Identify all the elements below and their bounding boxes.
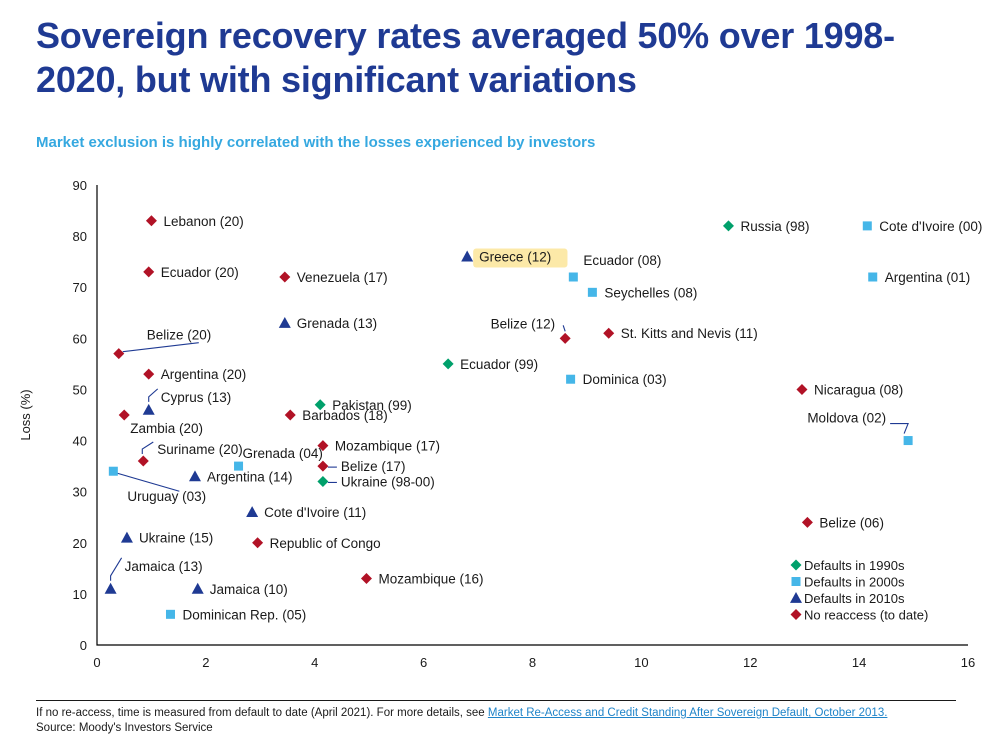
datapoint-russia-98[interactable] <box>723 220 734 231</box>
datapoint-label-ecuador-08: Ecuador (08) <box>583 253 661 268</box>
x-tick-label: 14 <box>852 655 866 670</box>
datapoint-label-mozambique-17: Mozambique (17) <box>335 439 440 454</box>
datapoint-label-st-kitts-and-nevis-11: St. Kitts and Nevis (11) <box>621 326 758 341</box>
datapoint-label-ecuador-99: Ecuador (99) <box>460 357 538 372</box>
y-tick-label: 40 <box>73 434 87 449</box>
datapoint-barbados-18[interactable] <box>285 410 296 421</box>
datapoint-label-argentina-01: Argentina (01) <box>885 270 971 285</box>
label-leader-line <box>890 424 908 434</box>
datapoint-argentina-01[interactable] <box>868 273 877 282</box>
datapoint-suriname-20[interactable] <box>138 456 149 467</box>
datapoint-dominica-03[interactable] <box>566 375 575 384</box>
chart-legend: Defaults in 1990sDefaults in 2000sDefaul… <box>790 558 928 623</box>
datapoint-jamaica-10[interactable] <box>192 583 204 594</box>
y-tick-label: 60 <box>73 331 87 346</box>
datapoint-label-greece-12: Greece (12) <box>479 250 551 265</box>
datapoint-label-barbados-18: Barbados (18) <box>302 408 388 423</box>
chart-canvas: 01020304050607080900246810121416Time fro… <box>0 170 990 680</box>
datapoint-label-belize-20: Belize (20) <box>147 328 212 343</box>
footer-note: If no re-access, time is measured from d… <box>36 706 956 736</box>
page-subtitle: Market exclusion is highly correlated wi… <box>36 134 936 151</box>
y-tick-label: 70 <box>73 280 87 295</box>
datapoint-label-zambia-20: Zambia (20) <box>130 421 203 436</box>
footer-line-2: Source: Moody's Investors Service <box>36 721 956 736</box>
footer-note-text: If no re-access, time is measured from d… <box>36 707 488 719</box>
datapoint-ecuador-99[interactable] <box>443 358 454 369</box>
label-leader-line <box>111 558 122 581</box>
datapoint-dominican-rep-05[interactable] <box>166 610 175 619</box>
datapoint-label-russia-98: Russia (98) <box>740 219 809 234</box>
datapoint-moldova-02[interactable] <box>904 436 913 445</box>
datapoint-label-republic-of-congo: Republic of Congo <box>270 536 381 551</box>
datapoint-label-grenada-04: Grenada (04) <box>243 446 323 461</box>
datapoint-label-lebanon-20: Lebanon (20) <box>163 214 243 229</box>
y-tick-label: 80 <box>73 229 87 244</box>
footer-divider <box>36 700 956 701</box>
datapoint-mozambique-16[interactable] <box>361 573 372 584</box>
datapoint-republic-of-congo[interactable] <box>252 537 263 548</box>
datapoint-label-jamaica-13: Jamaica (13) <box>125 559 203 574</box>
legend-label-defaults-in-2000s: Defaults in 2000s <box>804 575 905 590</box>
datapoint-label-cote-d-ivoire-11: Cote d'Ivoire (11) <box>264 505 366 520</box>
datapoint-belize-17[interactable] <box>317 461 328 472</box>
datapoint-label-mozambique-16: Mozambique (16) <box>378 572 483 587</box>
datapoint-label-dominican-rep-05: Dominican Rep. (05) <box>182 607 306 622</box>
source-link[interactable]: Market Re-Access and Credit Standing Aft… <box>488 707 888 719</box>
datapoint-zambia-20[interactable] <box>119 410 130 421</box>
datapoint-st-kitts-and-nevis-11[interactable] <box>603 328 614 339</box>
datapoint-grenada-13[interactable] <box>279 317 291 328</box>
datapoint-argentina-14[interactable] <box>189 470 201 481</box>
x-tick-label: 16 <box>961 655 975 670</box>
datapoint-label-cyprus-13: Cyprus (13) <box>161 390 232 405</box>
datapoint-nicaragua-08[interactable] <box>796 384 807 395</box>
legend-label-defaults-in-1990s: Defaults in 1990s <box>804 558 905 573</box>
datapoint-label-venezuela-17: Venezuela (17) <box>297 270 388 285</box>
x-tick-label: 8 <box>529 655 536 670</box>
legend-red-diamond-icon[interactable] <box>791 609 802 620</box>
datapoint-label-ukraine-98-00: Ukraine (98-00) <box>341 474 435 489</box>
footer-line-1: If no re-access, time is measured from d… <box>36 706 956 721</box>
datapoint-belize-06[interactable] <box>802 517 813 528</box>
datapoint-ukraine-15[interactable] <box>121 532 133 543</box>
datapoint-label-belize-17: Belize (17) <box>341 459 406 474</box>
datapoint-label-argentina-20: Argentina (20) <box>161 367 247 382</box>
datapoint-lebanon-20[interactable] <box>146 215 157 226</box>
datapoint-label-cote-d-ivoire-00: Cote d'Ivoire (00) <box>879 219 982 234</box>
datapoint-label-moldova-02: Moldova (02) <box>807 411 886 426</box>
x-tick-label: 4 <box>311 655 318 670</box>
scatter-chart: 01020304050607080900246810121416Time fro… <box>0 170 990 680</box>
label-leader-line <box>149 389 158 402</box>
datapoint-label-ukraine-15: Ukraine (15) <box>139 531 213 546</box>
datapoint-belize-12[interactable] <box>560 333 571 344</box>
datapoint-label-uruguay-03: Uruguay (03) <box>127 489 206 504</box>
datapoint-seychelles-08[interactable] <box>588 288 597 297</box>
label-leader-line <box>563 325 565 331</box>
datapoint-greece-12[interactable] <box>461 251 473 262</box>
datapoint-label-dominica-03: Dominica (03) <box>583 372 667 387</box>
label-leader-line <box>123 343 199 352</box>
x-tick-label: 6 <box>420 655 427 670</box>
datapoint-argentina-20[interactable] <box>143 369 154 380</box>
x-tick-label: 10 <box>634 655 648 670</box>
datapoint-jamaica-13[interactable] <box>105 583 117 594</box>
datapoint-label-nicaragua-08: Nicaragua (08) <box>814 382 903 397</box>
x-tick-label: 2 <box>202 655 209 670</box>
datapoint-venezuela-17[interactable] <box>279 272 290 283</box>
label-leader-line <box>142 442 153 454</box>
datapoint-label-argentina-14: Argentina (14) <box>207 469 293 484</box>
datapoint-label-seychelles-08: Seychelles (08) <box>604 285 697 300</box>
y-tick-label: 20 <box>73 536 87 551</box>
x-tick-label: 12 <box>743 655 757 670</box>
y-tick-label: 30 <box>73 485 87 500</box>
page-title: Sovereign recovery rates averaged 50% ov… <box>36 14 966 102</box>
datapoint-label-ecuador-20: Ecuador (20) <box>161 265 239 280</box>
datapoint-cote-d-ivoire-00[interactable] <box>863 221 872 230</box>
datapoint-ukraine-98-00[interactable] <box>317 476 328 487</box>
y-tick-label: 0 <box>80 638 87 653</box>
y-tick-label: 50 <box>73 382 87 397</box>
y-tick-label: 90 <box>73 178 87 193</box>
datapoint-label-suriname-20: Suriname (20) <box>157 442 243 457</box>
series-no-reaccess-to-date: Lebanon (20)Ecuador (20)Venezuela (17)St… <box>113 214 903 587</box>
datapoint-cote-d-ivoire-11[interactable] <box>246 506 258 517</box>
datapoint-label-belize-12: Belize (12) <box>491 316 556 331</box>
datapoint-cyprus-13[interactable] <box>143 404 155 415</box>
legend-blue-square-icon[interactable] <box>792 577 801 586</box>
datapoint-ecuador-20[interactable] <box>143 266 154 277</box>
datapoint-belize-20[interactable] <box>113 348 124 359</box>
y-tick-label: 10 <box>73 587 87 602</box>
legend-label-no-reaccess-to-date: No reaccess (to date) <box>804 608 928 623</box>
legend-label-defaults-in-2010s: Defaults in 2010s <box>804 591 905 606</box>
datapoint-ecuador-08[interactable] <box>569 273 578 282</box>
legend-green-diamond-icon[interactable] <box>791 560 802 571</box>
y-axis-title: Loss (%) <box>18 389 33 440</box>
datapoint-uruguay-03[interactable] <box>109 467 118 476</box>
legend-navy-triangle-icon[interactable] <box>790 592 802 603</box>
datapoint-label-belize-06: Belize (06) <box>819 515 884 530</box>
datapoint-label-jamaica-10: Jamaica (10) <box>210 582 288 597</box>
x-tick-label: 0 <box>93 655 100 670</box>
datapoint-label-grenada-13: Grenada (13) <box>297 316 377 331</box>
